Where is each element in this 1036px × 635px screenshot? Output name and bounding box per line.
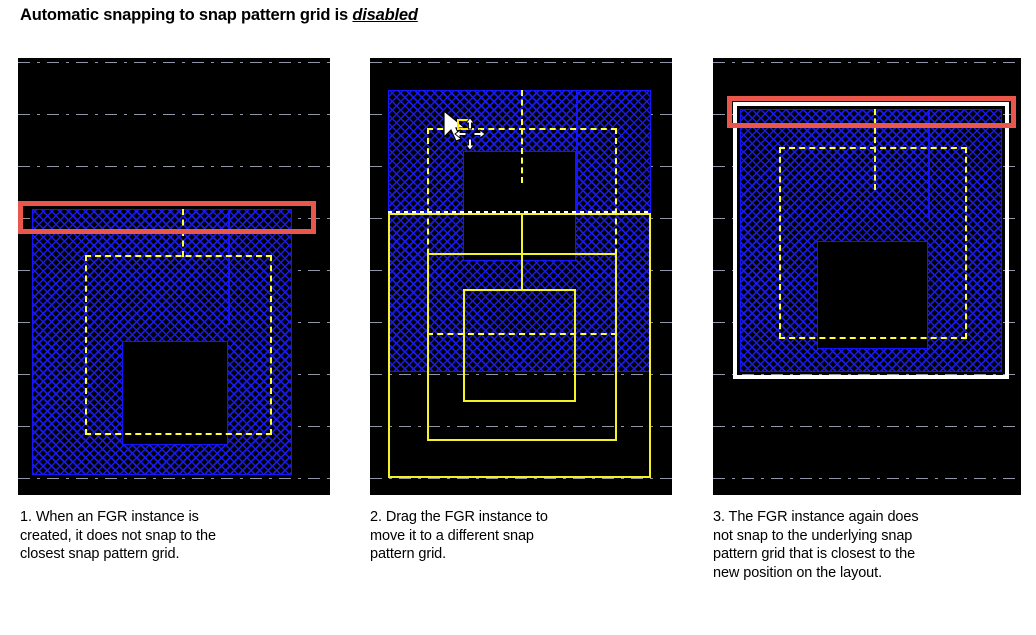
grid-line [370,62,672,63]
snap-pattern-axis-vertical [521,90,523,183]
page-title: Automatic snapping to snap pattern grid … [20,6,418,25]
grid-line [18,114,330,115]
drag-preview-core-opening [463,289,576,402]
move-cursor [442,110,488,154]
grid-line [713,62,1021,63]
layout-canvas-step-1[interactable] [18,58,330,495]
page-title-lead: Automatic snapping to snap pattern grid … [20,6,352,24]
grid-line [18,62,330,63]
callout-misalignment [727,96,1016,128]
layout-canvas-step-3[interactable] [713,58,1021,495]
grid-line [18,166,330,167]
snap-pattern-boundary [779,147,967,339]
page-title-emphasis: disabled [352,6,417,24]
caption-step-2: 2. Drag the FGR instance to move it to a… [370,508,580,564]
caption-step-1: 1. When an FGR instance is created, it d… [20,508,235,564]
grid-line [713,426,1021,427]
grid-line [370,478,672,479]
move-cursor-icon [442,110,488,154]
callout-misalignment [18,201,316,234]
caption-step-3: 3. The FGR instance again does not snap … [713,508,928,582]
layout-canvas-step-2[interactable] [370,58,672,495]
grid-line [713,478,1021,479]
snap-pattern-boundary [85,255,272,435]
drag-preview-axis-vertical [521,213,523,290]
grid-line [18,478,330,479]
